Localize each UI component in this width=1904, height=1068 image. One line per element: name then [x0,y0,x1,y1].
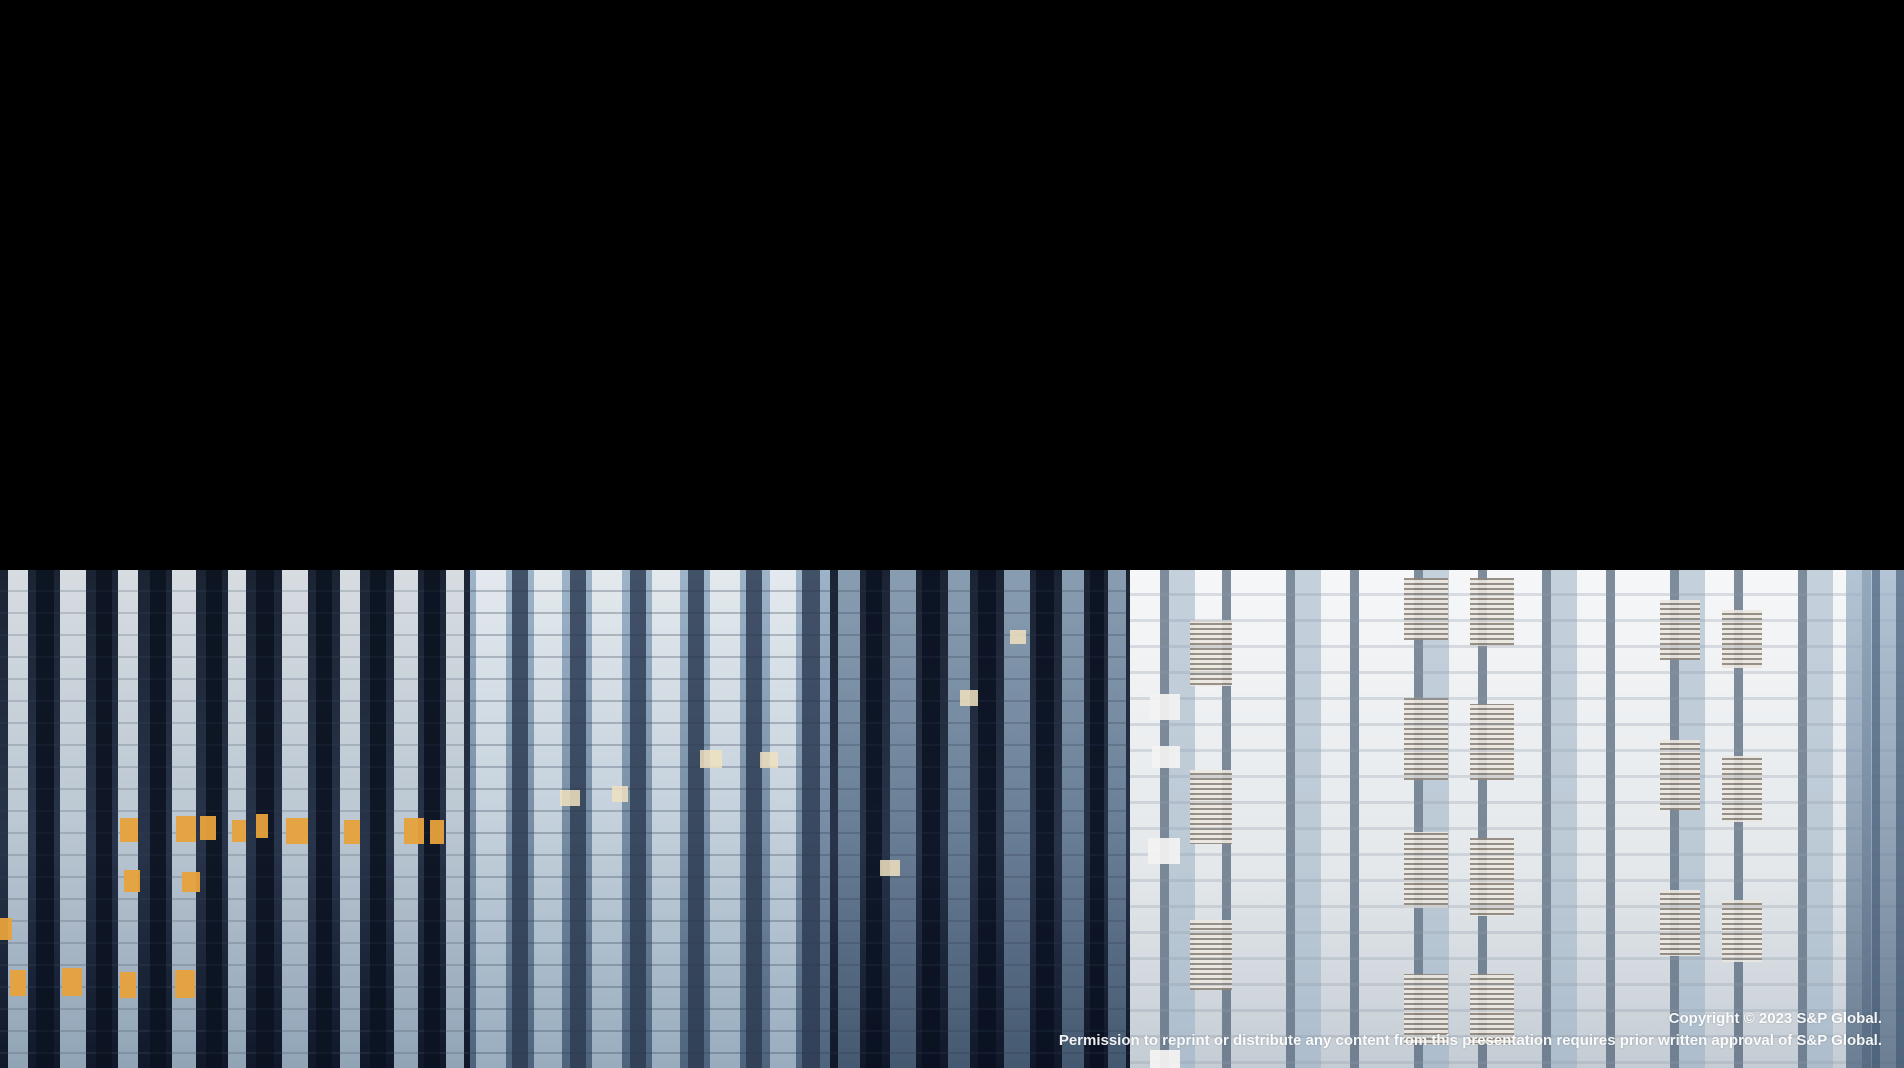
title-slide: 451 Research S&P Global Market Intellige… [0,0,1904,1068]
building-photo [0,570,1904,1068]
header-band [0,0,1904,570]
